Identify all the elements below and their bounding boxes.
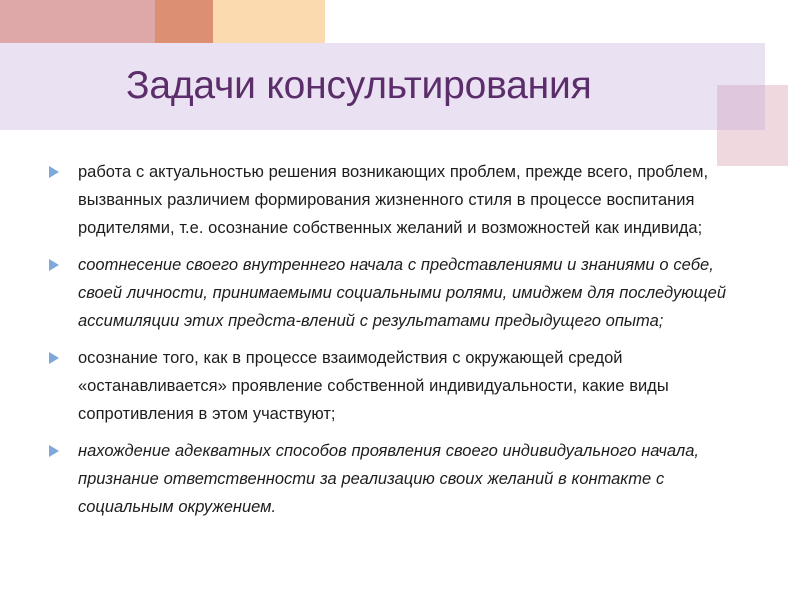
list-item: нахождение адекватных способов проявлени… <box>44 437 759 521</box>
list-item-text: нахождение адекватных способов проявлени… <box>78 437 759 521</box>
list-item-text: соотнесение своего внутреннего начала с … <box>78 251 759 335</box>
list-item: соотнесение своего внутреннего начала с … <box>44 251 759 335</box>
page-title: Задачи консультирования <box>126 54 746 118</box>
decorative-peach-bar <box>213 0 325 46</box>
triangle-bullet-icon <box>49 445 59 457</box>
bullet-list: работа с актуальностью решения возникающ… <box>44 158 759 530</box>
presentation-slide: Задачи консультирования работа с актуаль… <box>0 0 801 600</box>
list-item-text: работа с актуальностью решения возникающ… <box>78 158 759 242</box>
triangle-bullet-icon <box>49 259 59 271</box>
list-item-text: осознание того, как в процессе взаимодей… <box>78 344 759 428</box>
triangle-bullet-icon <box>49 166 59 178</box>
list-item: осознание того, как в процессе взаимодей… <box>44 344 759 428</box>
decorative-salmon-bar <box>155 0 213 46</box>
decorative-pink-bar <box>0 0 155 46</box>
list-item: работа с актуальностью решения возникающ… <box>44 158 759 242</box>
triangle-bullet-icon <box>49 352 59 364</box>
